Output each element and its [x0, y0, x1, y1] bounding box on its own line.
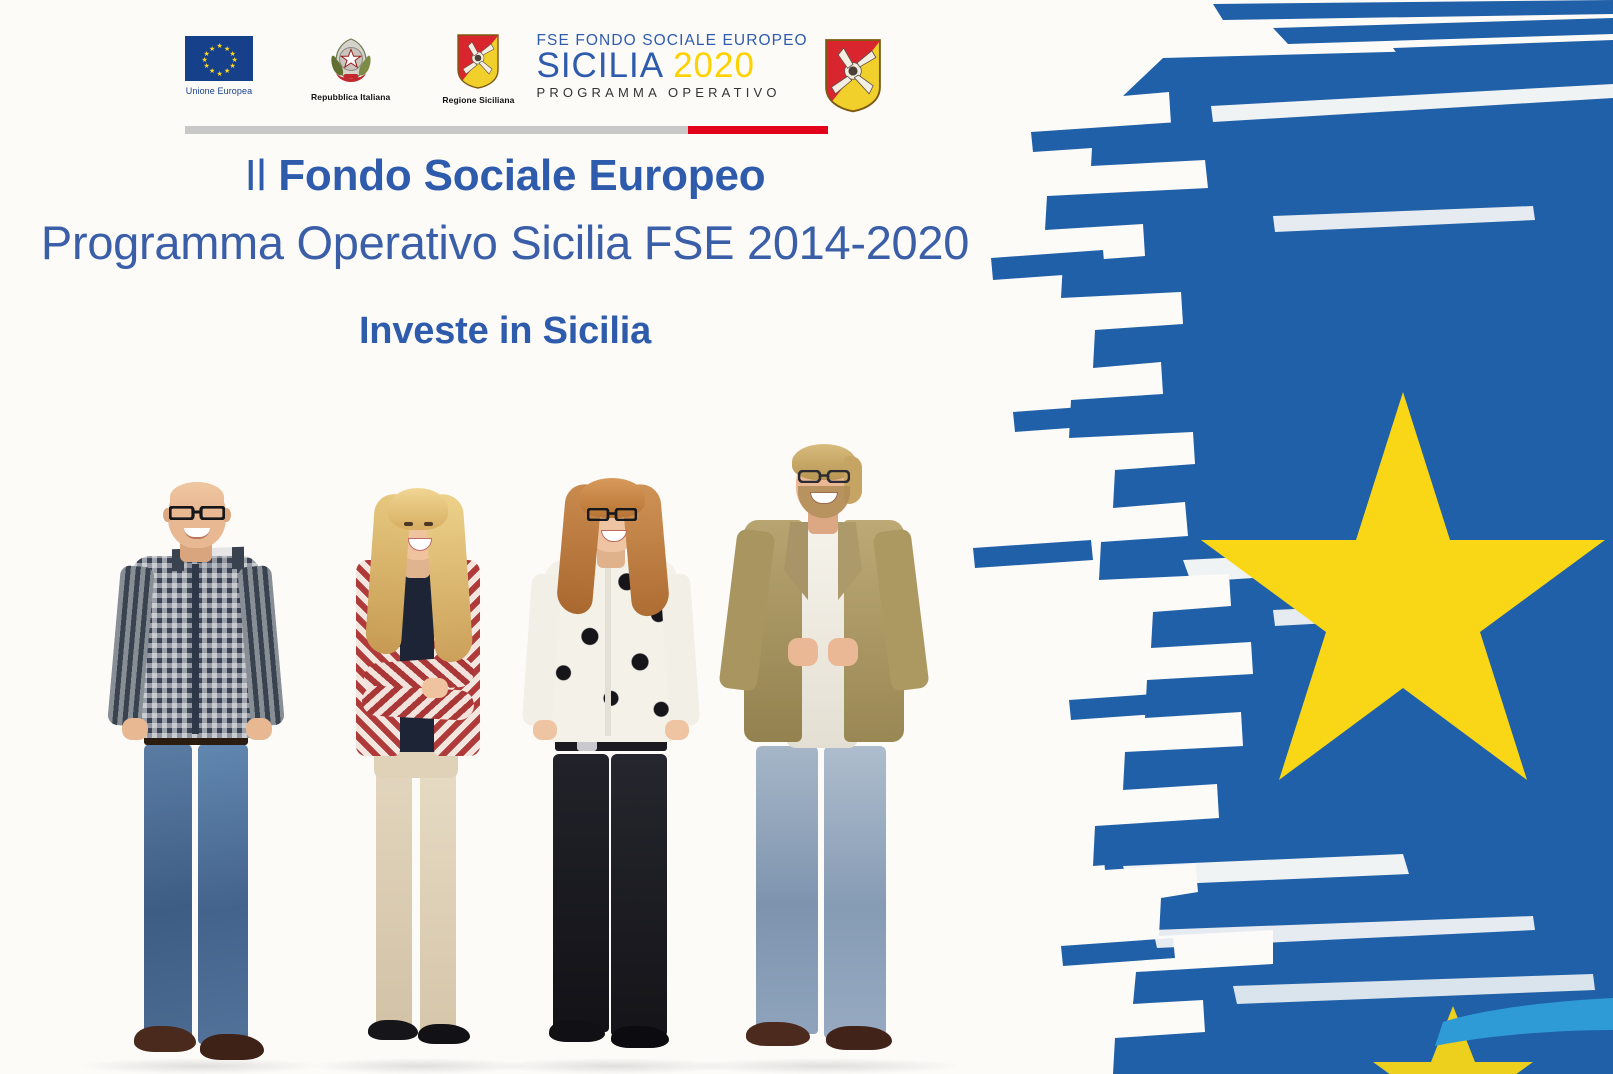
logo-caption-sicily: Regione Siciliana — [442, 95, 514, 105]
fse-year: 2020 — [673, 48, 755, 84]
person-3-hand-right — [665, 720, 689, 740]
fse-subtitle: PROGRAMMA OPERATIVO — [536, 85, 807, 100]
logo-caption-eu: Unione Europea — [186, 86, 252, 96]
person-1-hand-left — [122, 718, 148, 740]
person-4-shoe-left — [746, 1022, 810, 1046]
person-3-leg-left — [553, 754, 609, 1032]
eu-flag-icon: ★ ★ ★ ★ ★ ★ ★ ★ ★ ★ ★ ★ — [185, 36, 253, 81]
person-2-shoe-right — [418, 1024, 470, 1044]
eu-flag-artwork — [973, 0, 1613, 1074]
person-1-leg-left — [144, 744, 192, 1044]
headline-line-1-article: Il — [245, 151, 279, 200]
person-1-shoe-right — [200, 1034, 264, 1060]
person-4-shoe-right — [826, 1026, 892, 1050]
person-2-eye-left — [404, 522, 413, 526]
person-3 — [515, 464, 710, 1074]
person-4-leg-right — [824, 746, 886, 1038]
person-3-leg-right — [611, 754, 667, 1036]
logo-caption-italy: Repubblica Italiana — [311, 92, 390, 102]
person-3-glasses-icon — [587, 508, 637, 521]
divider-gray-segment — [185, 126, 688, 134]
person-4-hand-right — [828, 638, 858, 666]
person-4-shadow — [690, 1058, 960, 1074]
logo-repubblica-italiana: Repubblica Italiana — [311, 30, 390, 102]
person-4-glasses-icon — [798, 470, 850, 483]
divider-bar — [185, 126, 828, 134]
person-3-shoe-left — [549, 1020, 605, 1042]
person-2-leg-left — [376, 760, 412, 1032]
trinacria-shield-large-icon — [822, 36, 884, 119]
torn-blue-field — [973, 0, 1613, 1074]
person-3-hand-left — [533, 720, 557, 740]
italy-emblem-icon — [324, 33, 378, 87]
person-1-hand-right — [246, 718, 272, 740]
person-4 — [712, 434, 937, 1074]
person-4-leg-left — [756, 746, 818, 1034]
person-1-leg-right — [198, 744, 248, 1044]
headline-line-3: Investe in Sicilia — [0, 308, 1010, 354]
person-1-glasses-icon — [169, 506, 225, 520]
trinacria-shield-icon — [455, 32, 501, 90]
person-2-leg-right — [420, 760, 456, 1032]
headline-line-2: Programma Operativo Sicilia FSE 2014-202… — [0, 208, 1010, 278]
logo-unione-europea: ★ ★ ★ ★ ★ ★ ★ ★ ★ ★ ★ ★ Unione Europea — [185, 30, 253, 96]
person-2-arm-folded-lower — [361, 685, 474, 721]
logo-regione-siciliana: Regione Siciliana — [442, 30, 514, 105]
person-1-shoe-left — [134, 1026, 196, 1052]
people-photo-group — [0, 434, 1010, 1074]
person-4-hand-left — [788, 638, 818, 666]
person-2-eye-right — [424, 522, 433, 526]
person-2-hair-top — [388, 488, 448, 530]
headline-line-1: Il Fondo Sociale Europeo — [0, 150, 1010, 202]
person-2 — [330, 464, 510, 1074]
poster-canvas: ★ ★ ★ ★ ★ ★ ★ ★ ★ ★ ★ ★ Unione Europea — [0, 0, 1613, 1074]
person-2-hand — [422, 678, 448, 698]
person-1-shirt-placket — [192, 564, 199, 734]
fse-sicilia-word: SICILIA — [536, 48, 664, 84]
headline-block: Il Fondo Sociale Europeo Programma Opera… — [0, 150, 1010, 354]
logo-fse-sicilia-2020: FSE FONDO SOCIALE EUROPEO SICILIA 2020 P… — [536, 32, 883, 119]
person-3-blouse-placket — [605, 568, 611, 736]
divider-red-segment — [688, 126, 828, 134]
headline-line-1-emphasis: Fondo Sociale Europeo — [278, 151, 765, 200]
institutional-logo-strip: ★ ★ ★ ★ ★ ★ ★ ★ ★ ★ ★ ★ Unione Europea — [185, 30, 845, 130]
person-1-shadow — [80, 1058, 320, 1074]
person-2-shoe-left — [368, 1020, 418, 1040]
person-3-shoe-right — [611, 1026, 669, 1048]
person-1 — [100, 474, 300, 1074]
